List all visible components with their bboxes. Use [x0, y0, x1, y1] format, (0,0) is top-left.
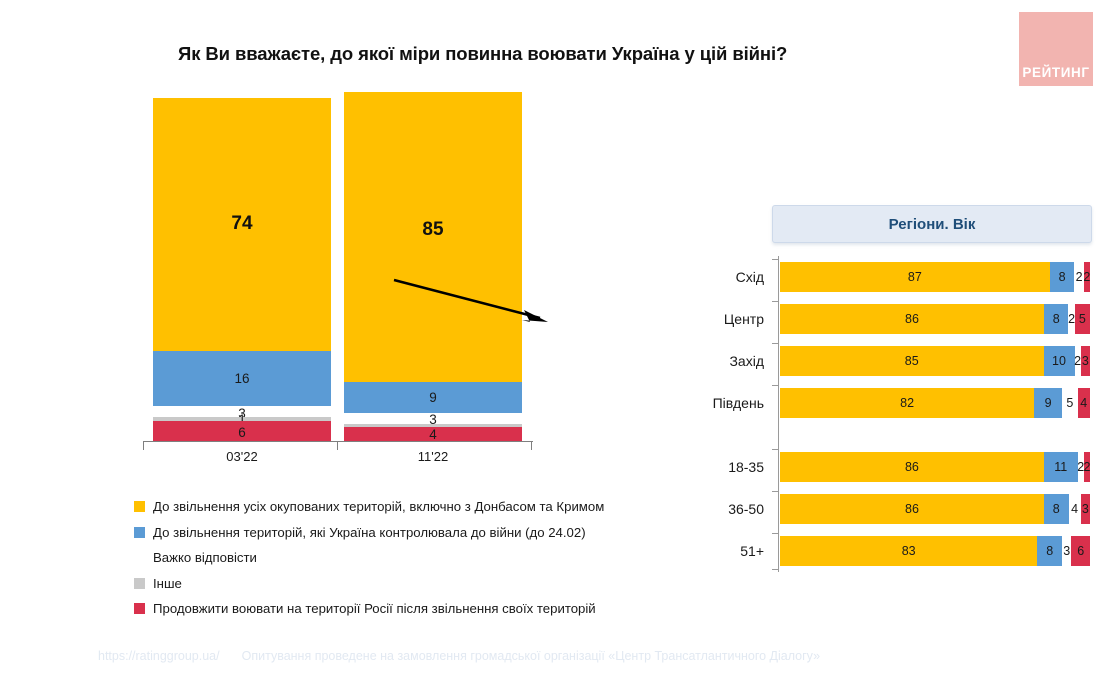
legend-item: Важко відповісти — [134, 549, 694, 566]
bar-value-yellow: 85 — [905, 355, 919, 368]
page-title: Як Ви вважаєте, до якої міри повинна вою… — [178, 42, 938, 65]
group-separator — [700, 424, 1096, 446]
bar-segment-yellow: 86 — [780, 452, 1044, 482]
segment-red: 6 — [153, 421, 331, 442]
bar-value-red: 4 — [1080, 397, 1087, 410]
x-axis-label-0322: 03'22 — [153, 449, 331, 464]
bar-value-red: 3 — [1082, 503, 1089, 516]
bar-value-red: 5 — [1079, 313, 1086, 326]
column-1122: 85 9 3 4 — [344, 92, 522, 442]
bar-value-blue: 11 — [1054, 461, 1067, 474]
row-label: Захід — [700, 340, 772, 382]
bar-segment-white: 3 — [1062, 536, 1071, 566]
bar-segment-blue: 11 — [1044, 452, 1078, 482]
x-axis-line — [143, 441, 533, 442]
bar-value-white: 3 — [1063, 545, 1070, 558]
bar-segment-yellow: 87 — [780, 262, 1050, 292]
bar-segment-white: 5 — [1062, 388, 1078, 418]
legend-label: Продовжити воювати на території Росії пі… — [153, 600, 596, 617]
segment-value-red: 4 — [344, 428, 522, 442]
legend-swatch-white — [134, 552, 145, 563]
footer-url[interactable]: https://ratinggroup.ua/ — [98, 649, 220, 663]
bar-segment-red: 5 — [1075, 304, 1090, 334]
segment-value-yellow: 85 — [344, 220, 522, 239]
breakdown-row: 18-35 86 11 2 2 — [700, 446, 1096, 488]
category-axis — [778, 446, 779, 488]
legend-swatch-blue — [134, 527, 145, 538]
bar-value-red: 2 — [1083, 271, 1090, 284]
breakdown-row: Центр 86 8 2 5 — [700, 298, 1096, 340]
rating-group-logo: РЕЙТИНГ — [1019, 12, 1093, 86]
bar-segment-yellow: 86 — [780, 304, 1044, 334]
panel-header: Регіони. Вік — [772, 205, 1092, 243]
bar-segment-yellow: 82 — [780, 388, 1034, 418]
bar-segment-blue: 8 — [1044, 304, 1069, 334]
bar-segment-red: 3 — [1081, 494, 1090, 524]
poll-infographic: РЕЙТИНГ Як Ви вважаєте, до якої міри пов… — [0, 0, 1096, 674]
row-bars: 86 8 4 3 — [780, 494, 1090, 524]
bar-segment-yellow: 85 — [780, 346, 1044, 376]
axis-tick — [772, 449, 778, 450]
legend-swatch-yellow — [134, 501, 145, 512]
column-0322: 74 16 3 1 6 — [153, 98, 331, 442]
breakdown-row: 51+ 83 8 3 6 — [700, 530, 1096, 572]
bar-value-blue: 8 — [1059, 271, 1066, 284]
row-bars: 87 8 2 2 — [780, 262, 1090, 292]
bar-value-yellow: 86 — [905, 503, 919, 516]
footer-note: Опитування проведене на замовлення грома… — [242, 649, 820, 663]
x-axis-label-1122: 11'22 — [344, 449, 522, 464]
bar-segment-yellow: 86 — [780, 494, 1044, 524]
row-label: Південь — [700, 382, 772, 424]
bar-value-blue: 10 — [1052, 355, 1066, 368]
breakdown-row: Схід 87 8 2 2 — [700, 256, 1096, 298]
legend-label: Важко відповісти — [153, 549, 257, 566]
legend-label: Інше — [153, 575, 182, 592]
legend-item: До звільнення усіх окупованих територій,… — [134, 498, 694, 515]
segment-value-yellow: 74 — [153, 214, 331, 233]
bar-value-white: 2 — [1076, 271, 1083, 284]
legend: До звільнення усіх окупованих територій,… — [134, 498, 694, 626]
bar-segment-red: 6 — [1071, 536, 1090, 566]
bar-segment-white: 2 — [1074, 262, 1083, 292]
row-bars: 83 8 3 6 — [780, 536, 1090, 566]
row-label: 51+ — [700, 530, 772, 572]
axis-tick — [143, 442, 144, 450]
bar-value-blue: 9 — [1045, 397, 1052, 410]
bar-value-red: 2 — [1083, 461, 1090, 474]
legend-item: До звільнення територій, які Україна кон… — [134, 524, 694, 541]
bar-segment-blue: 9 — [1034, 388, 1062, 418]
bar-segment-white: 4 — [1069, 494, 1081, 524]
bar-value-yellow: 83 — [902, 545, 916, 558]
row-label: Центр — [700, 298, 772, 340]
row-label: 18-35 — [700, 446, 772, 488]
category-axis — [778, 488, 779, 530]
row-bars: 86 8 2 5 — [780, 304, 1090, 334]
breakdown-bars: Схід 87 8 2 2 Центр 86 8 2 5 Захід — [700, 256, 1096, 572]
bar-value-yellow: 82 — [900, 397, 914, 410]
segment-white: 3 — [344, 413, 522, 424]
axis-tick — [531, 442, 532, 450]
segment-blue: 9 — [344, 382, 522, 413]
bar-value-yellow: 86 — [905, 461, 919, 474]
legend-swatch-red — [134, 603, 145, 614]
legend-item: Інше — [134, 575, 694, 592]
bar-segment-red: 3 — [1081, 346, 1090, 376]
bar-value-blue: 8 — [1053, 313, 1060, 326]
segment-yellow: 85 — [344, 92, 522, 382]
axis-tick — [772, 533, 778, 534]
bar-value-red: 3 — [1082, 355, 1089, 368]
panel-header-label: Регіони. Вік — [889, 216, 976, 233]
axis-tick — [337, 442, 338, 450]
legend-label: До звільнення усіх окупованих територій,… — [153, 498, 604, 515]
segment-yellow: 74 — [153, 98, 331, 351]
bar-value-blue: 8 — [1053, 503, 1060, 516]
bar-segment-blue: 8 — [1037, 536, 1062, 566]
row-bars: 85 10 2 3 — [780, 346, 1090, 376]
axis-tick — [772, 569, 778, 570]
legend-item: Продовжити воювати на території Росії пі… — [134, 600, 694, 617]
bar-value-red: 6 — [1077, 545, 1084, 558]
bar-segment-yellow: 83 — [780, 536, 1037, 566]
breakdown-row: 36-50 86 8 4 3 — [700, 488, 1096, 530]
segment-blue: 16 — [153, 351, 331, 406]
bar-value-yellow: 87 — [908, 271, 922, 284]
bar-value-yellow: 86 — [905, 313, 919, 326]
bar-value-white: 4 — [1071, 503, 1078, 516]
bar-segment-red: 4 — [1078, 388, 1090, 418]
bar-segment-blue: 8 — [1050, 262, 1075, 292]
segment-value-red: 6 — [153, 426, 331, 440]
axis-tick — [772, 491, 778, 492]
bar-value-white: 5 — [1066, 397, 1073, 410]
row-label: 36-50 — [700, 488, 772, 530]
row-label: Схід — [700, 256, 772, 298]
bar-segment-blue: 10 — [1044, 346, 1075, 376]
breakdown-row: Захід 85 10 2 3 — [700, 340, 1096, 382]
bar-segment-red: 2 — [1084, 262, 1090, 292]
segment-value-blue: 9 — [344, 391, 522, 405]
row-bars: 82 9 5 4 — [780, 388, 1090, 418]
bar-segment-red: 2 — [1084, 452, 1090, 482]
segment-red: 4 — [344, 427, 522, 442]
main-stacked-column-chart: 74 16 3 1 6 85 9 3 — [138, 96, 538, 466]
bar-value-blue: 8 — [1046, 545, 1053, 558]
logo-text: РЕЙТИНГ — [1022, 66, 1089, 87]
breakdown-row: Південь 82 9 5 4 — [700, 382, 1096, 424]
category-axis — [778, 530, 779, 572]
bar-segment-blue: 8 — [1044, 494, 1069, 524]
footer: https://ratinggroup.ua/Опитування провед… — [98, 649, 1038, 663]
segment-value-blue: 16 — [153, 372, 331, 386]
legend-swatch-gray — [134, 578, 145, 589]
legend-label: До звільнення територій, які Україна кон… — [153, 524, 586, 541]
row-bars: 86 11 2 2 — [780, 452, 1090, 482]
